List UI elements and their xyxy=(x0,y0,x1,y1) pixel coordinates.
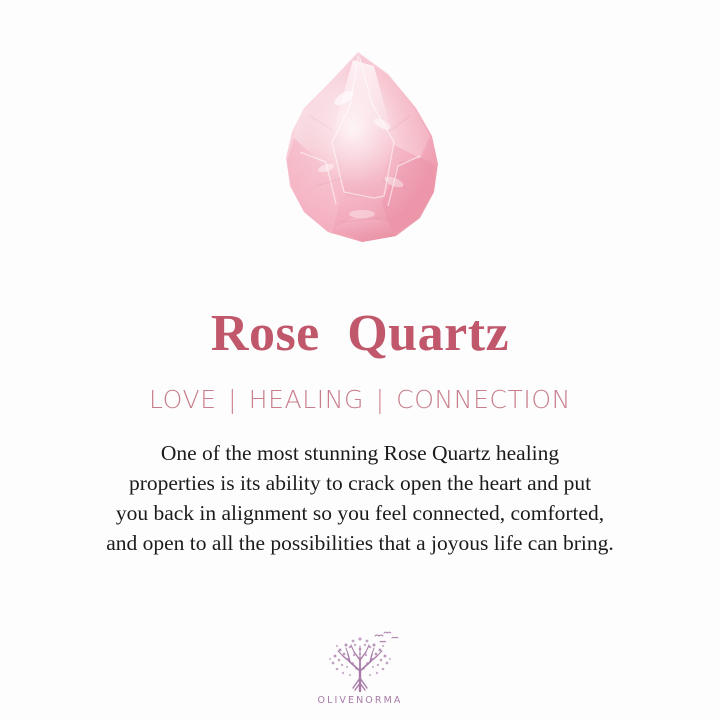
tree-of-life-icon xyxy=(317,630,403,692)
keyword-tagline: LOVE | HEALING | CONNECTION xyxy=(149,387,571,412)
description-text: One of the most stunning Rose Quartz hea… xyxy=(20,438,700,558)
keyword-love: LOVE xyxy=(149,385,217,414)
page-title: Rose Quartz xyxy=(211,308,509,360)
brand-logo: OLIVENORMA xyxy=(0,630,720,706)
keyword-separator: | xyxy=(225,385,240,414)
description-line: you back in alignment so you feel connec… xyxy=(20,498,700,528)
description-line: and open to all the possibilities that a… xyxy=(20,528,700,558)
description-line: properties is its ability to crack open … xyxy=(20,468,700,498)
brand-wordmark: OLIVENORMA xyxy=(318,695,403,706)
rose-quartz-info-card: Rose Quartz LOVE | HEALING | CONNECTION … xyxy=(0,0,720,720)
rose-quartz-crystal-image xyxy=(270,46,450,256)
keyword-separator: | xyxy=(373,385,388,414)
keyword-healing: HEALING xyxy=(249,385,364,414)
description-line: One of the most stunning Rose Quartz hea… xyxy=(20,438,700,468)
keyword-connection: CONNECTION xyxy=(396,385,571,414)
